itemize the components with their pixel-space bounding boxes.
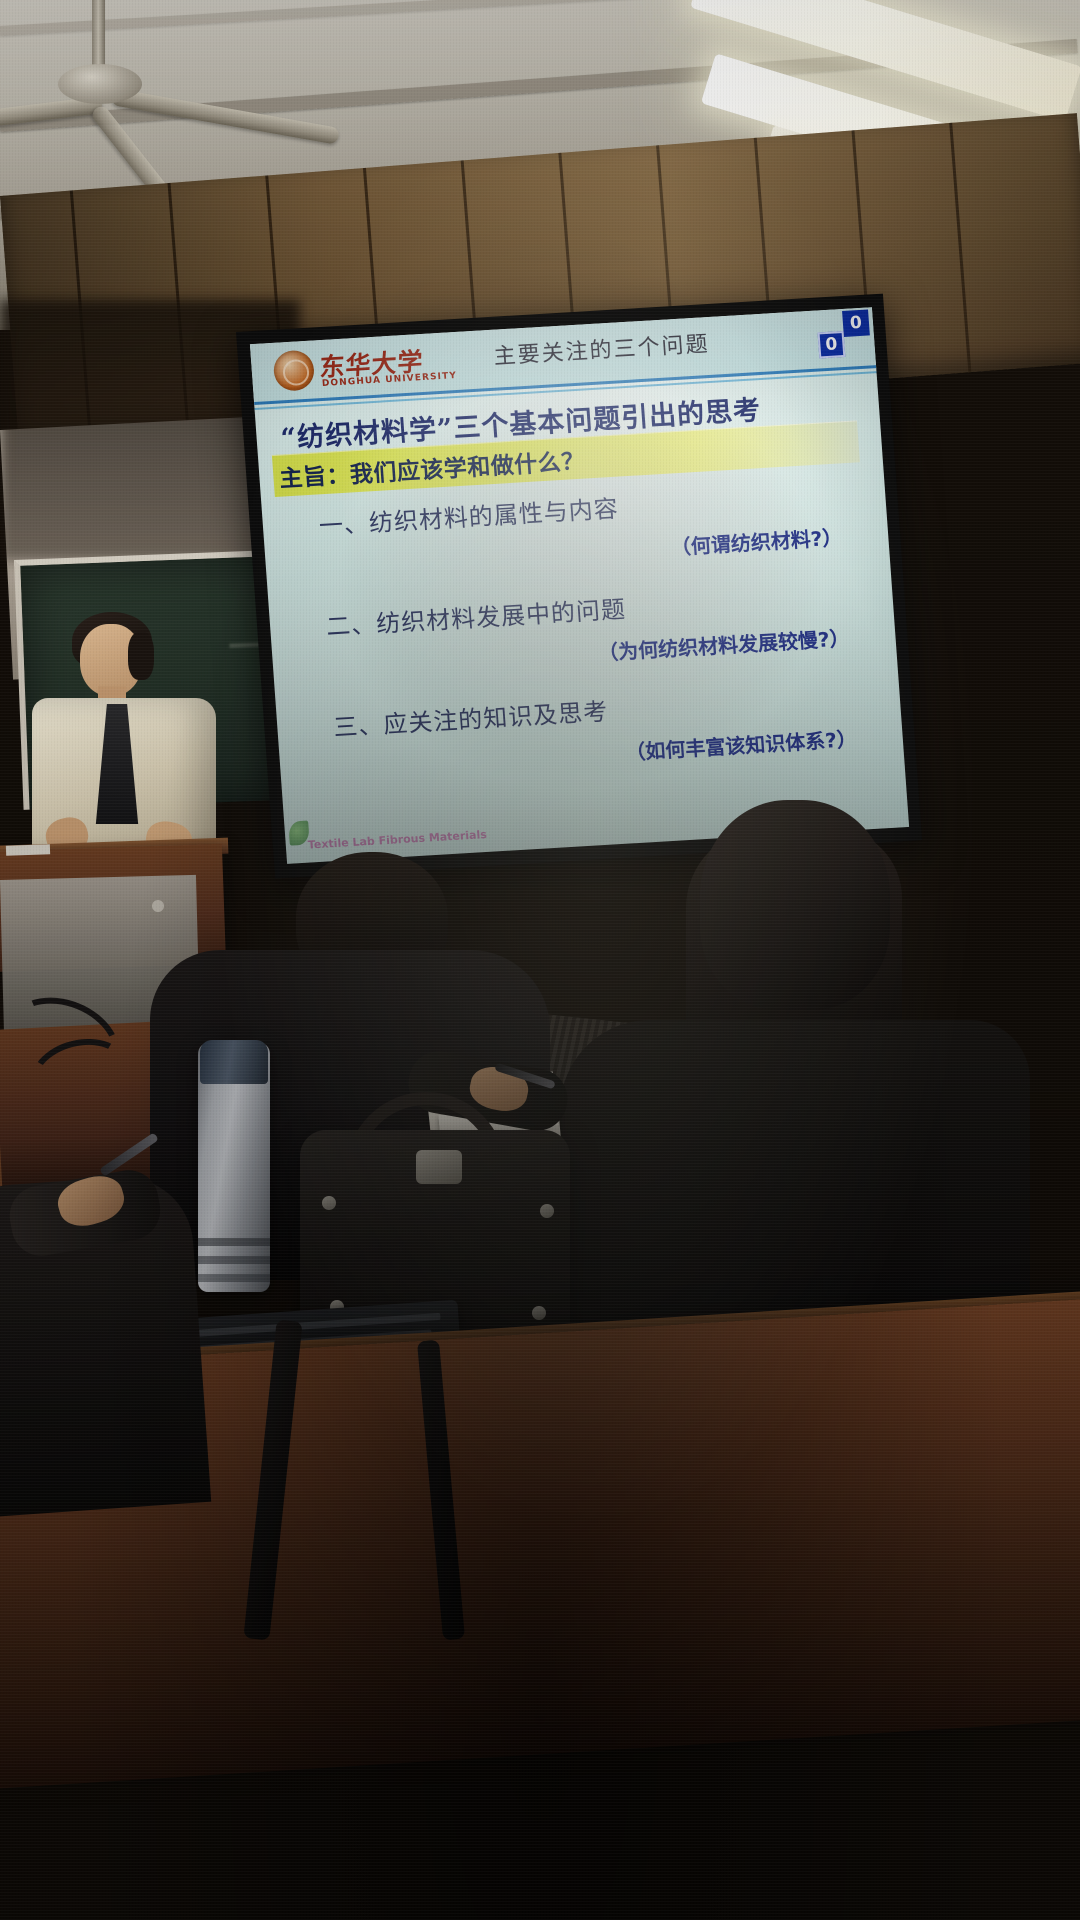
podium-knob <box>152 900 164 912</box>
projected-slide: 东华大学 DONGHUA UNIVERSITY 主要关注的三个问题 “纺织材料学… <box>250 307 909 864</box>
status-badge: 0 <box>818 331 846 358</box>
panel-seam <box>949 123 971 372</box>
presenter <box>28 612 228 872</box>
leaf-icon <box>288 821 310 846</box>
thermos-band <box>198 1256 270 1264</box>
presenter-hair <box>128 632 154 680</box>
projection-screen-frame: 东华大学 DONGHUA UNIVERSITY 主要关注的三个问题 “纺织材料学… <box>236 294 922 879</box>
status-badge: 0 <box>842 309 870 336</box>
handbag-clasp <box>416 1150 462 1184</box>
handbag-stud <box>532 1306 546 1320</box>
slide-footer-watermark: Textile Lab Fibrous Materials <box>308 829 488 852</box>
ceiling-fan-rod <box>92 0 105 72</box>
handbag-stud <box>322 1196 336 1210</box>
podium-strip <box>6 844 50 856</box>
university-seal-icon <box>273 349 316 391</box>
slide-bullet-list: 一、纺织材料的属性与内容 （何谓纺织材料?） 二、纺织材料发展中的问题 （为何纺… <box>262 473 904 786</box>
attendee-head <box>700 800 890 1010</box>
thermos-lid <box>200 1040 268 1084</box>
thermos-band <box>198 1274 270 1282</box>
thermos-band <box>198 1238 270 1246</box>
lecture-hall-photo: 东华大学 DONGHUA UNIVERSITY 主要关注的三个问题 “纺织材料学… <box>0 0 1080 1920</box>
ceiling-fan-hub <box>58 64 142 104</box>
handbag-stud <box>540 1204 554 1218</box>
